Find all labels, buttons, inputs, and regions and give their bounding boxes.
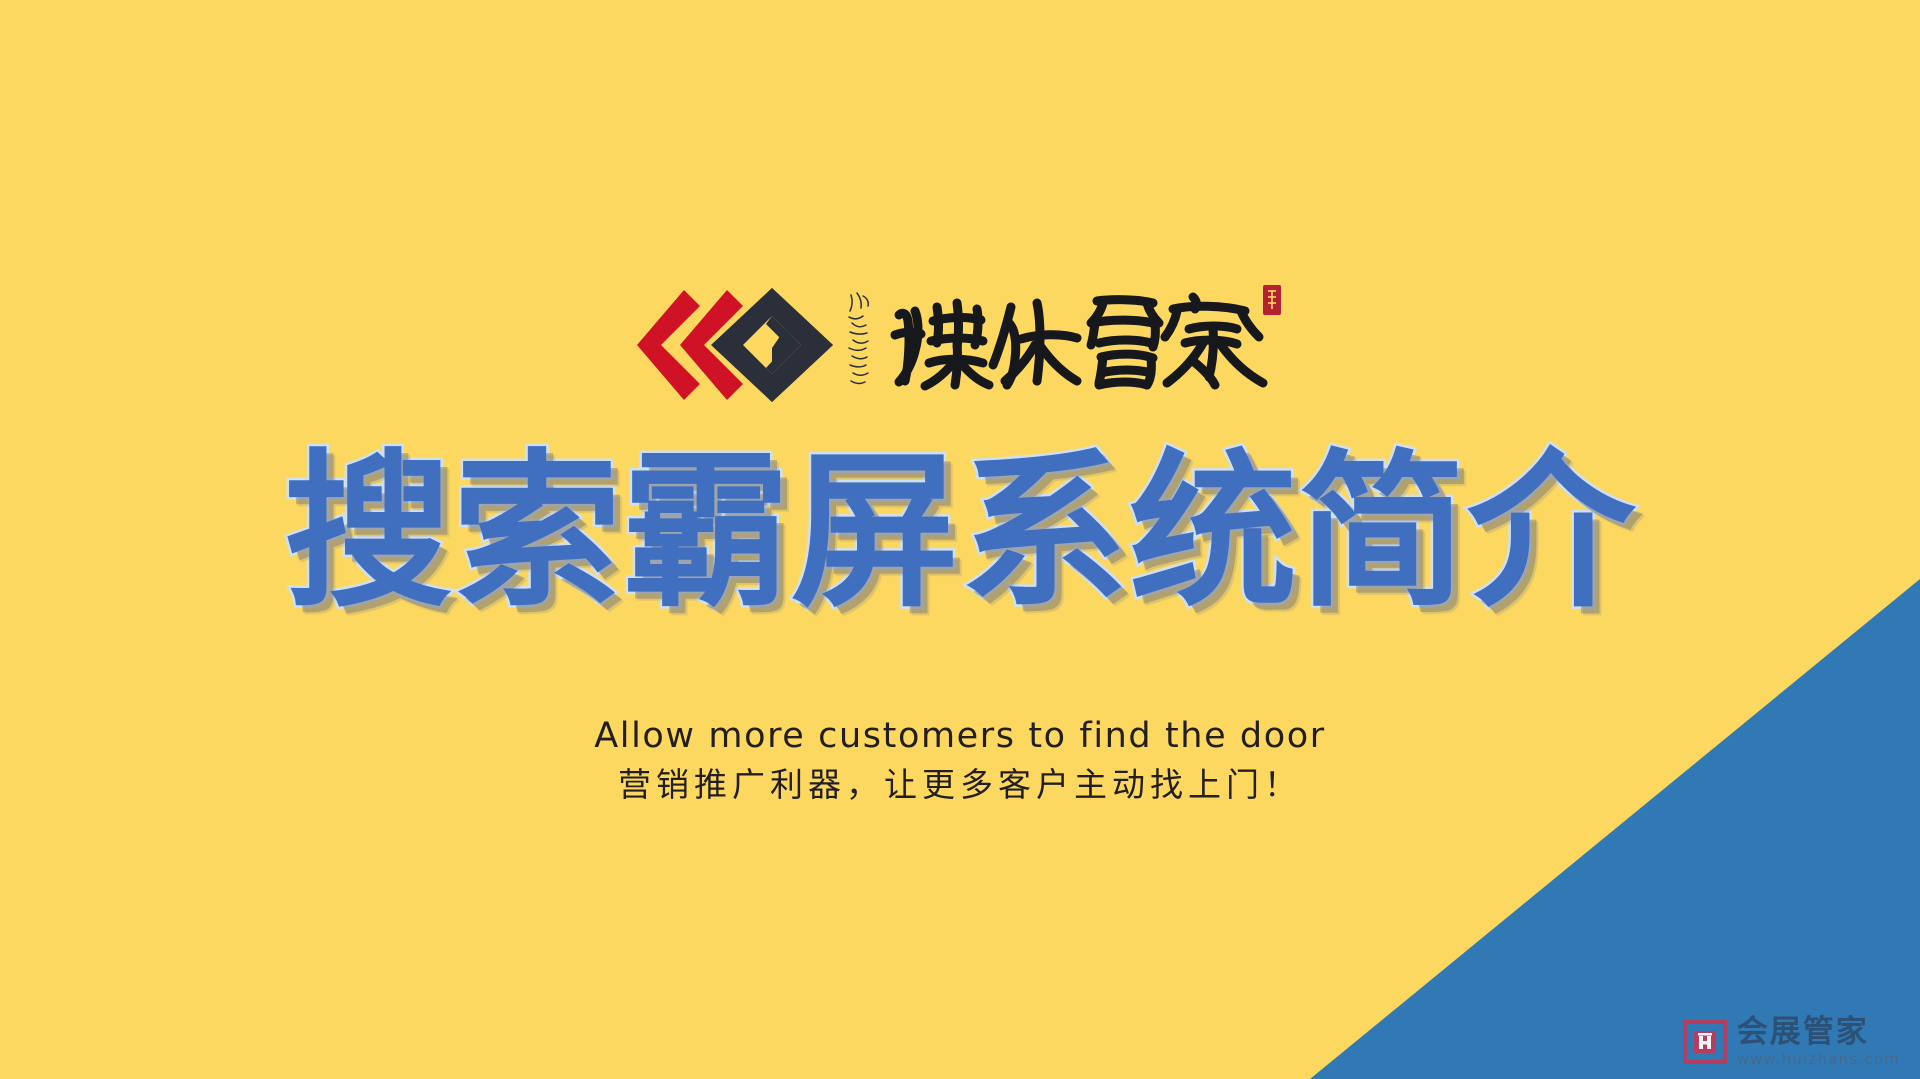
main-title-container: 搜索霸屏系统简介 (0, 432, 1920, 632)
watermark-url: www.huizhans.com (1737, 1052, 1900, 1067)
subtitle-container: Allow more customers to find the door 营销… (0, 712, 1920, 808)
wordmark-calligraphy-icon (885, 281, 1285, 403)
presentation-slide: 搜索霸屏系统简介 Allow more customers to find th… (0, 0, 1920, 1079)
watermark-texts: 会展管家 www.huizhans.com (1737, 1017, 1900, 1067)
chevron-diamond-logo-icon (635, 282, 835, 402)
brand-logo (0, 282, 1920, 402)
watermark-name: 会展管家 (1737, 1017, 1900, 1048)
subtitle-english: Allow more customers to find the door (0, 712, 1920, 760)
subtitle-chinese: 营销推广利器，让更多客户主动找上门！ (0, 762, 1920, 808)
red-seal-icon (1263, 285, 1281, 315)
watermark: 会展管家 www.huizhans.com (1683, 1017, 1900, 1067)
logo-inscription-icon (843, 287, 877, 397)
main-title: 搜索霸屏系统简介 (284, 432, 1636, 632)
corner-wedge-decoration (1310, 579, 1920, 1079)
watermark-badge-icon (1683, 1020, 1727, 1064)
